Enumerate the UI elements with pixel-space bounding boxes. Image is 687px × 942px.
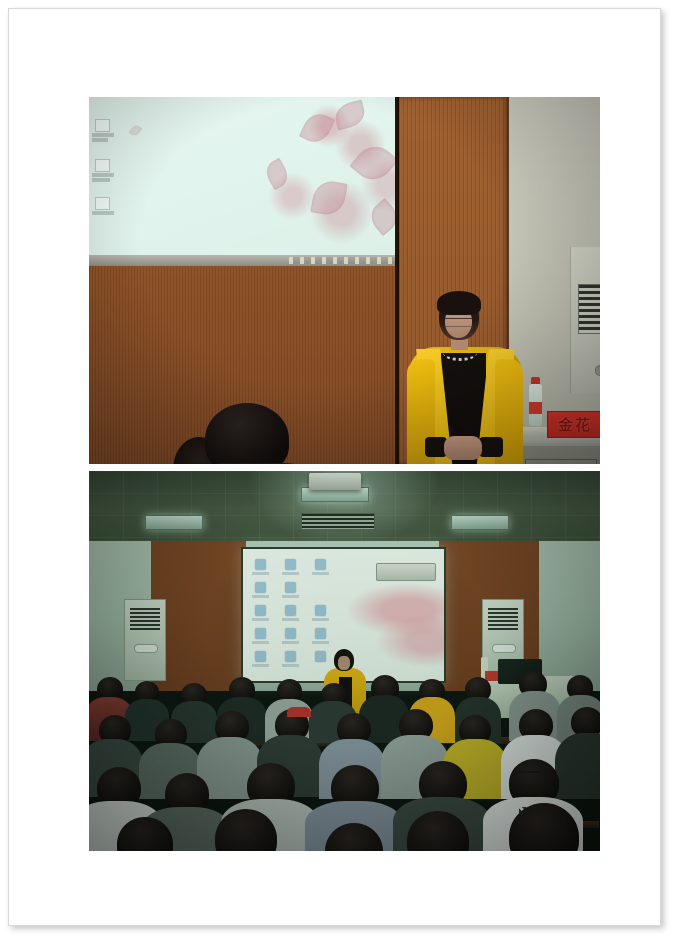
desktop-icon [315, 559, 326, 570]
desktop-icon [285, 605, 296, 616]
document-page: 金花 [8, 8, 661, 926]
audience-torso [555, 733, 600, 799]
desktop-icon-label [282, 641, 299, 644]
desktop-icon [315, 605, 326, 616]
desktop-icon-label [252, 595, 269, 598]
desktop-icon-label [282, 664, 299, 667]
air-conditioner-panel [134, 644, 158, 653]
ceiling-projector [309, 473, 361, 490]
desktop-icon [285, 651, 296, 662]
desktop-icon [285, 582, 296, 593]
ceiling-light-fixture [145, 515, 203, 530]
desktop-icon-label [282, 595, 299, 598]
desktop-icon [315, 628, 326, 639]
desktop-icon [285, 559, 296, 570]
air-conditioner-panel [492, 644, 516, 653]
desktop-icon-label [282, 618, 299, 621]
desktop-icon-label [312, 572, 329, 575]
glasses-icon [519, 771, 541, 780]
desktop-icon-label [252, 572, 269, 575]
desktop-icon [255, 582, 266, 593]
desktop-icon-label [282, 572, 299, 575]
speaker-face [338, 656, 350, 670]
ceiling-light-fixture [451, 515, 509, 530]
desktop-icon-label [252, 618, 269, 621]
desktop-icon [315, 651, 326, 662]
air-conditioner-grille-icon [488, 608, 518, 630]
desktop-icon-label [252, 664, 269, 667]
photo-lecture-audience [89, 471, 600, 851]
desktop-icon [255, 628, 266, 639]
desktop-icon-label [312, 641, 329, 644]
dialog-window [376, 563, 436, 581]
red-cap [287, 707, 311, 717]
desktop-icon [255, 651, 266, 662]
desktop-icon [255, 605, 266, 616]
desktop-icon-label [252, 641, 269, 644]
air-conditioner-left [124, 599, 166, 681]
desktop-icon-label [312, 618, 329, 621]
photo-vignette [89, 97, 600, 464]
ceiling-air-vent [301, 513, 375, 530]
desktop-icon [285, 628, 296, 639]
air-conditioner-grille-icon [130, 608, 160, 630]
photo-lecture-speaker: 金花 [89, 97, 600, 464]
desktop-icon [255, 559, 266, 570]
